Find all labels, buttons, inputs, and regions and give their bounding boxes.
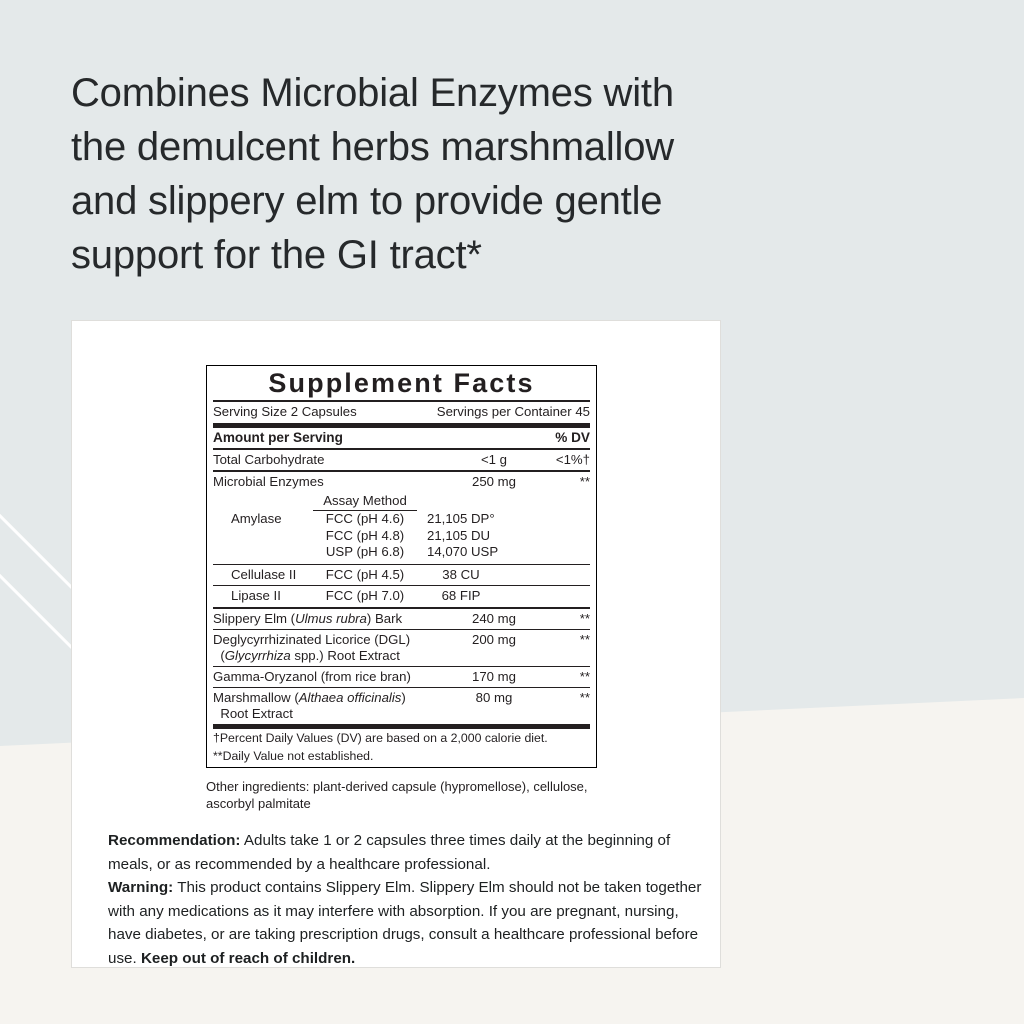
assay-method-label: Assay Method	[313, 493, 417, 511]
supplement-facts-panel: Supplement Facts Serving Size 2 Capsules…	[206, 365, 597, 768]
assay-method-header: Assay Method	[213, 492, 590, 511]
ingredient-name: Marshmallow (Althaea officinalis) Root E…	[213, 690, 450, 722]
enzyme-name: Amylase	[213, 511, 313, 528]
assay-group-amylase: Amylase FCC (pH 4.6) 21,105 DP° FCC (pH …	[213, 511, 590, 561]
assay-line: FCC (pH 4.8) 21,105 DU	[213, 528, 590, 545]
directions-block: Recommendation: Adults take 1 or 2 capsu…	[108, 829, 703, 970]
ingredient-name: Slippery Elm (Ulmus rubra) Bark	[213, 611, 450, 627]
other-ingredients: Other ingredients: plant-derived capsule…	[206, 779, 597, 812]
ingredient-dv: **	[538, 690, 590, 706]
supplement-facts-title: Supplement Facts	[213, 366, 590, 400]
assay-method: FCC (pH 4.8)	[313, 528, 417, 545]
ingredient-dv: **	[538, 632, 590, 648]
ingredient-dv: **	[538, 611, 590, 627]
footnote-not-established: **Daily Value not established.	[213, 747, 590, 765]
footnote-daily-value: †Percent Daily Values (DV) are based on …	[213, 729, 590, 747]
serving-size: Serving Size 2 Capsules	[213, 404, 357, 420]
serving-info: Serving Size 2 Capsules Servings per Con…	[213, 402, 590, 423]
nutrient-amount: <1 g	[450, 452, 538, 468]
percent-dv-label: % DV	[555, 430, 590, 446]
assay-method: USP (pH 6.8)	[313, 544, 417, 561]
assay-method: FCC (pH 4.5)	[313, 567, 417, 584]
ingredient-amount: 80 mg	[450, 690, 538, 706]
nutrient-dv: **	[538, 474, 590, 490]
assay-method: FCC (pH 4.6)	[313, 511, 417, 528]
ingredient-name: Deglycyrrhizinated Licorice (DGL) (Glycy…	[213, 632, 450, 664]
ingredient-row-slippery-elm: Slippery Elm (Ulmus rubra) Bark 240 mg *…	[213, 609, 590, 629]
assay-group-lipase: Lipase II FCC (pH 7.0) 68 FIP	[213, 586, 590, 607]
nutrient-row-microbial-enzymes: Microbial Enzymes 250 mg **	[213, 472, 590, 492]
enzyme-name: Cellulase II	[213, 567, 313, 584]
ingredient-amount: 200 mg	[450, 632, 538, 648]
assay-line: USP (pH 6.8) 14,070 USP	[213, 544, 590, 561]
amount-per-serving-label: Amount per Serving	[213, 430, 343, 446]
servings-per-container: Servings per Container 45	[437, 404, 590, 420]
assay-method: FCC (pH 7.0)	[313, 588, 417, 605]
assay-value: 21,105 DP°	[417, 511, 590, 528]
assay-value: 38 CU	[417, 567, 505, 584]
keep-out-of-reach: Keep out of reach of children.	[141, 950, 355, 967]
nutrient-name: Total Carbohydrate	[213, 452, 450, 468]
ingredient-dv: **	[538, 669, 590, 685]
nutrient-row-carbohydrate: Total Carbohydrate <1 g <1%†	[213, 450, 590, 470]
ingredient-row-gamma-oryzanol: Gamma-Oryzanol (from rice bran) 170 mg *…	[213, 667, 590, 687]
nutrient-dv: <1%†	[538, 452, 590, 468]
assay-value: 14,070 USP	[417, 544, 590, 561]
nutrient-name: Microbial Enzymes	[213, 474, 450, 490]
label-card: Supplement Facts Serving Size 2 Capsules…	[71, 320, 721, 968]
assay-line: Amylase FCC (pH 4.6) 21,105 DP°	[213, 511, 590, 528]
nutrient-amount: 250 mg	[450, 474, 538, 490]
enzyme-name: Lipase II	[213, 588, 313, 605]
amount-per-serving-header: Amount per Serving % DV	[213, 428, 590, 448]
assay-value: 21,105 DU	[417, 528, 590, 545]
ingredient-name: Gamma-Oryzanol (from rice bran)	[213, 669, 450, 685]
recommendation-label: Recommendation:	[108, 832, 240, 849]
ingredient-row-marshmallow: Marshmallow (Althaea officinalis) Root E…	[213, 688, 590, 724]
warning-label: Warning:	[108, 879, 173, 896]
ingredient-amount: 170 mg	[450, 669, 538, 685]
assay-value: 68 FIP	[417, 588, 505, 605]
assay-group-cellulase: Cellulase II FCC (pH 4.5) 38 CU	[213, 565, 590, 586]
headline: Combines Microbial Enzymes with the demu…	[71, 66, 881, 282]
ingredient-row-dgl: Deglycyrrhizinated Licorice (DGL) (Glycy…	[213, 630, 590, 666]
ingredient-amount: 240 mg	[450, 611, 538, 627]
